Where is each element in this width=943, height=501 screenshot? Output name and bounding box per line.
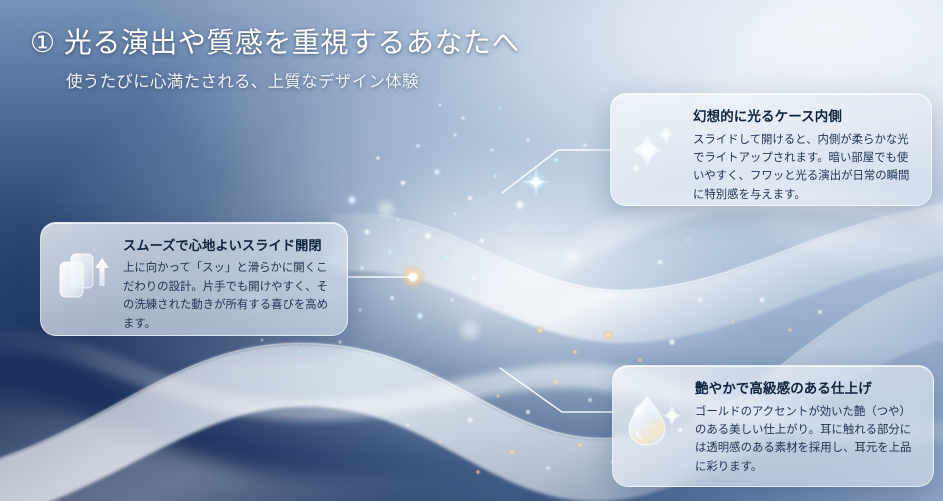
page-subtitle: 使うたびに心満たされる、上質なデザイン体験 bbox=[66, 68, 630, 92]
feature-card-finish[interactable]: 艶やかで高級感のある仕上げ ゴールドのアクセントが効いた艶（つや）のある美しい仕… bbox=[612, 365, 934, 487]
feature-card-glow[interactable]: 幻想的に光るケース内側 スライドして開けると、内側が柔らかな光でライトアップされ… bbox=[610, 93, 932, 206]
card-description: 上に向かって「スッ」と滑らかに開くこだわりの設計。片手でも開けやすく、その洗練さ… bbox=[123, 259, 333, 333]
card-title: スムーズで心地よいスライド開閉 bbox=[123, 237, 333, 254]
feature-card-slide[interactable]: スムーズで心地よいスライド開閉 上に向かって「スッ」と滑らかに開くこだわりの設計… bbox=[40, 222, 348, 336]
card-body: 艶やかで高級感のある仕上げ ゴールドのアクセントが効いた艶（つや）のある美しい仕… bbox=[695, 378, 919, 476]
card-body: スムーズで心地よいスライド開閉 上に向かって「スッ」と滑らかに開くこだわりの設計… bbox=[123, 235, 333, 333]
light-flare-gold bbox=[400, 264, 426, 290]
card-title: 幻想的に光るケース内側 bbox=[693, 108, 917, 126]
light-flare-cyan bbox=[520, 166, 552, 198]
card-description: ゴールドのアクセントが効いた艶（つや）のある美しい仕上がり。耳に触れる部分には透… bbox=[695, 403, 919, 477]
page-header: ① 光る演出や質感を重視するあなたへ 使うたびに心満たされる、上質なデザイン体験 bbox=[30, 24, 630, 92]
page-title: ① 光る演出や質感を重視するあなたへ bbox=[30, 24, 630, 62]
card-description: スライドして開けると、内側が柔らかな光でライトアップされます。暗い部屋でも使いや… bbox=[693, 131, 917, 205]
slide-canvas: ① 光る演出や質感を重視するあなたへ 使うたびに心満たされる、上質なデザイン体験 bbox=[0, 0, 943, 501]
droplet-icon bbox=[623, 384, 689, 456]
connector-to-finish-card bbox=[500, 368, 614, 412]
section-number: ① bbox=[30, 27, 56, 58]
card-body: 幻想的に光るケース内側 スライドして開けると、内側が柔らかな光でライトアップされ… bbox=[693, 106, 917, 204]
card-title: 艶やかで高級感のある仕上げ bbox=[695, 380, 919, 398]
connector-to-glow-card bbox=[502, 150, 612, 193]
slide-open-icon bbox=[51, 241, 117, 313]
title-text: 光る演出や質感を重視するあなたへ bbox=[64, 27, 520, 58]
sparkle-icon bbox=[621, 112, 687, 184]
